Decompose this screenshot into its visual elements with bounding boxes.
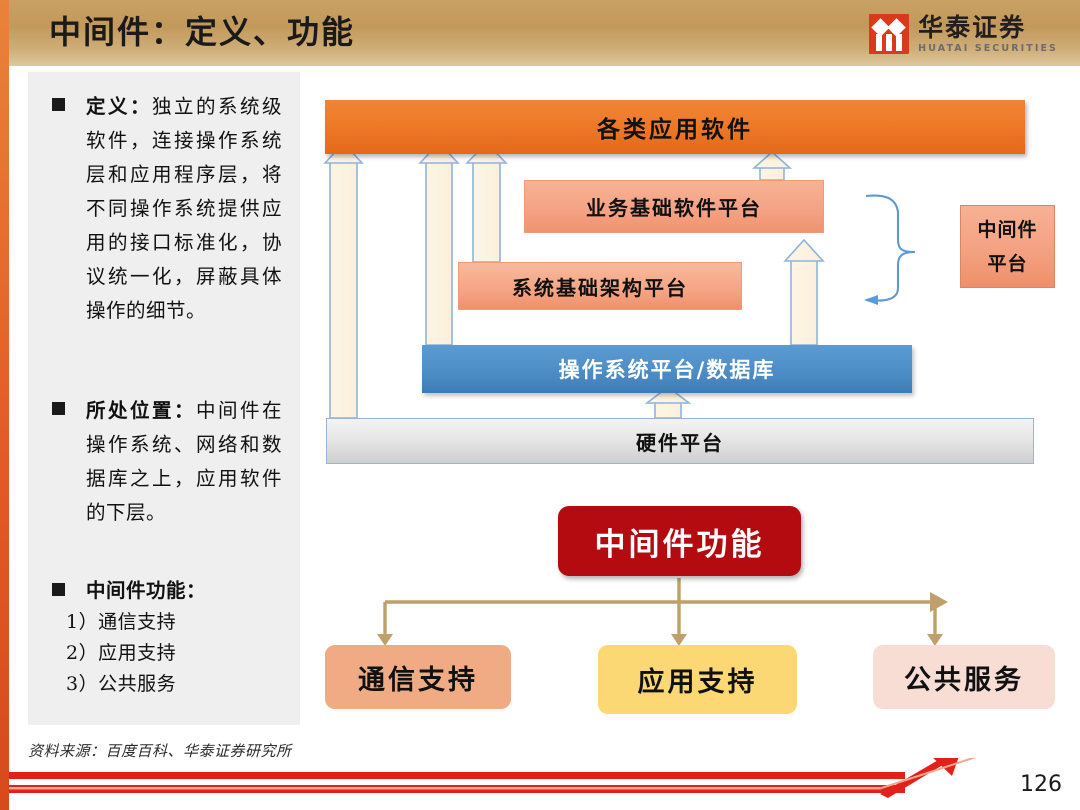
left-accent-strip [0,0,9,810]
bullet-sub-item-1: 1）通信支持 [66,607,292,638]
stack-box-hardware-platform: 硬件平台 [326,418,1034,464]
bullet-sub-item-3: 3）公共服务 [66,669,292,700]
bullet-text-definition: 独立的系统级软件，连接操作系统层和应用程序层，将不同操作系统提供应用的接口标准化… [86,95,282,322]
tree-arrow-head-east [930,592,948,612]
footer-arrow-graphic [0,758,1080,810]
stack-box-os-database: 操作系统平台/数据库 [422,345,912,393]
stack-box-business-platform: 业务基础软件平台 [524,180,824,233]
stack-arrow-os-to-biz-head [785,240,823,261]
function-leaf-application-support: 应用支持 [598,645,797,714]
bullet-item-position: 所处位置：中间件在操作系统、网络和数据库之上，应用软件的下层。 [52,394,282,530]
logo-name-cn: 华泰证券 [918,15,1058,40]
slide-root: 中间件：定义、功能 华泰证券 HUATAI SECURITIES 定义：独立的系… [0,0,1080,810]
logo-name-en: HUATAI SECURITIES [918,43,1058,54]
page-number: 126 [1020,772,1062,797]
stack-arrow-hardware-to-app [330,160,357,418]
stack-arrow-biz-to-app-head [754,152,790,168]
bullet-item-definition: 定义：独立的系统级软件，连接操作系统层和应用程序层，将不同操作系统提供应用的接口… [52,90,282,328]
bullet-text-panel: 定义：独立的系统级软件，连接操作系统层和应用程序层，将不同操作系统提供应用的接口… [28,72,300,725]
huatai-logo: 华泰证券 HUATAI SECURITIES [869,12,1058,56]
square-bullet-icon [52,98,65,111]
stack-box-system-platform: 系统基础架构平台 [458,262,742,310]
function-tree-connectors [385,578,935,634]
function-leaf-communication-support: 通信支持 [325,645,511,709]
stack-arrow-os-to-biz [791,258,817,345]
middleware-callout-line2: 平台 [987,247,1027,281]
bullet-item-functions: 中间件功能： 1）通信支持 2）应用支持 3）公共服务 [52,575,292,700]
stack-arrow-sys-to-app [473,160,500,262]
stack-arrow-os-to-app [426,160,452,345]
middleware-callout-line1: 中间件 [977,213,1037,247]
page-title: 中间件：定义、功能 [49,7,355,53]
bullet-sub-item-2: 2）应用支持 [66,638,292,669]
bullet-label-functions: 中间件功能： [86,579,206,602]
bullet-label-position: 所处位置： [86,399,196,422]
function-leaf-public-service: 公共服务 [873,645,1055,709]
square-bullet-icon [52,583,65,596]
bullet-label-definition: 定义： [86,95,152,118]
function-root-middleware-functions: 中间件功能 [558,506,801,576]
huatai-logo-mark-icon [869,14,909,54]
square-bullet-icon [52,402,65,415]
stack-callout-middleware-platform: 中间件 平台 [960,205,1055,288]
stack-box-application-layer: 各类应用软件 [325,100,1025,154]
middleware-bracket [864,196,915,305]
